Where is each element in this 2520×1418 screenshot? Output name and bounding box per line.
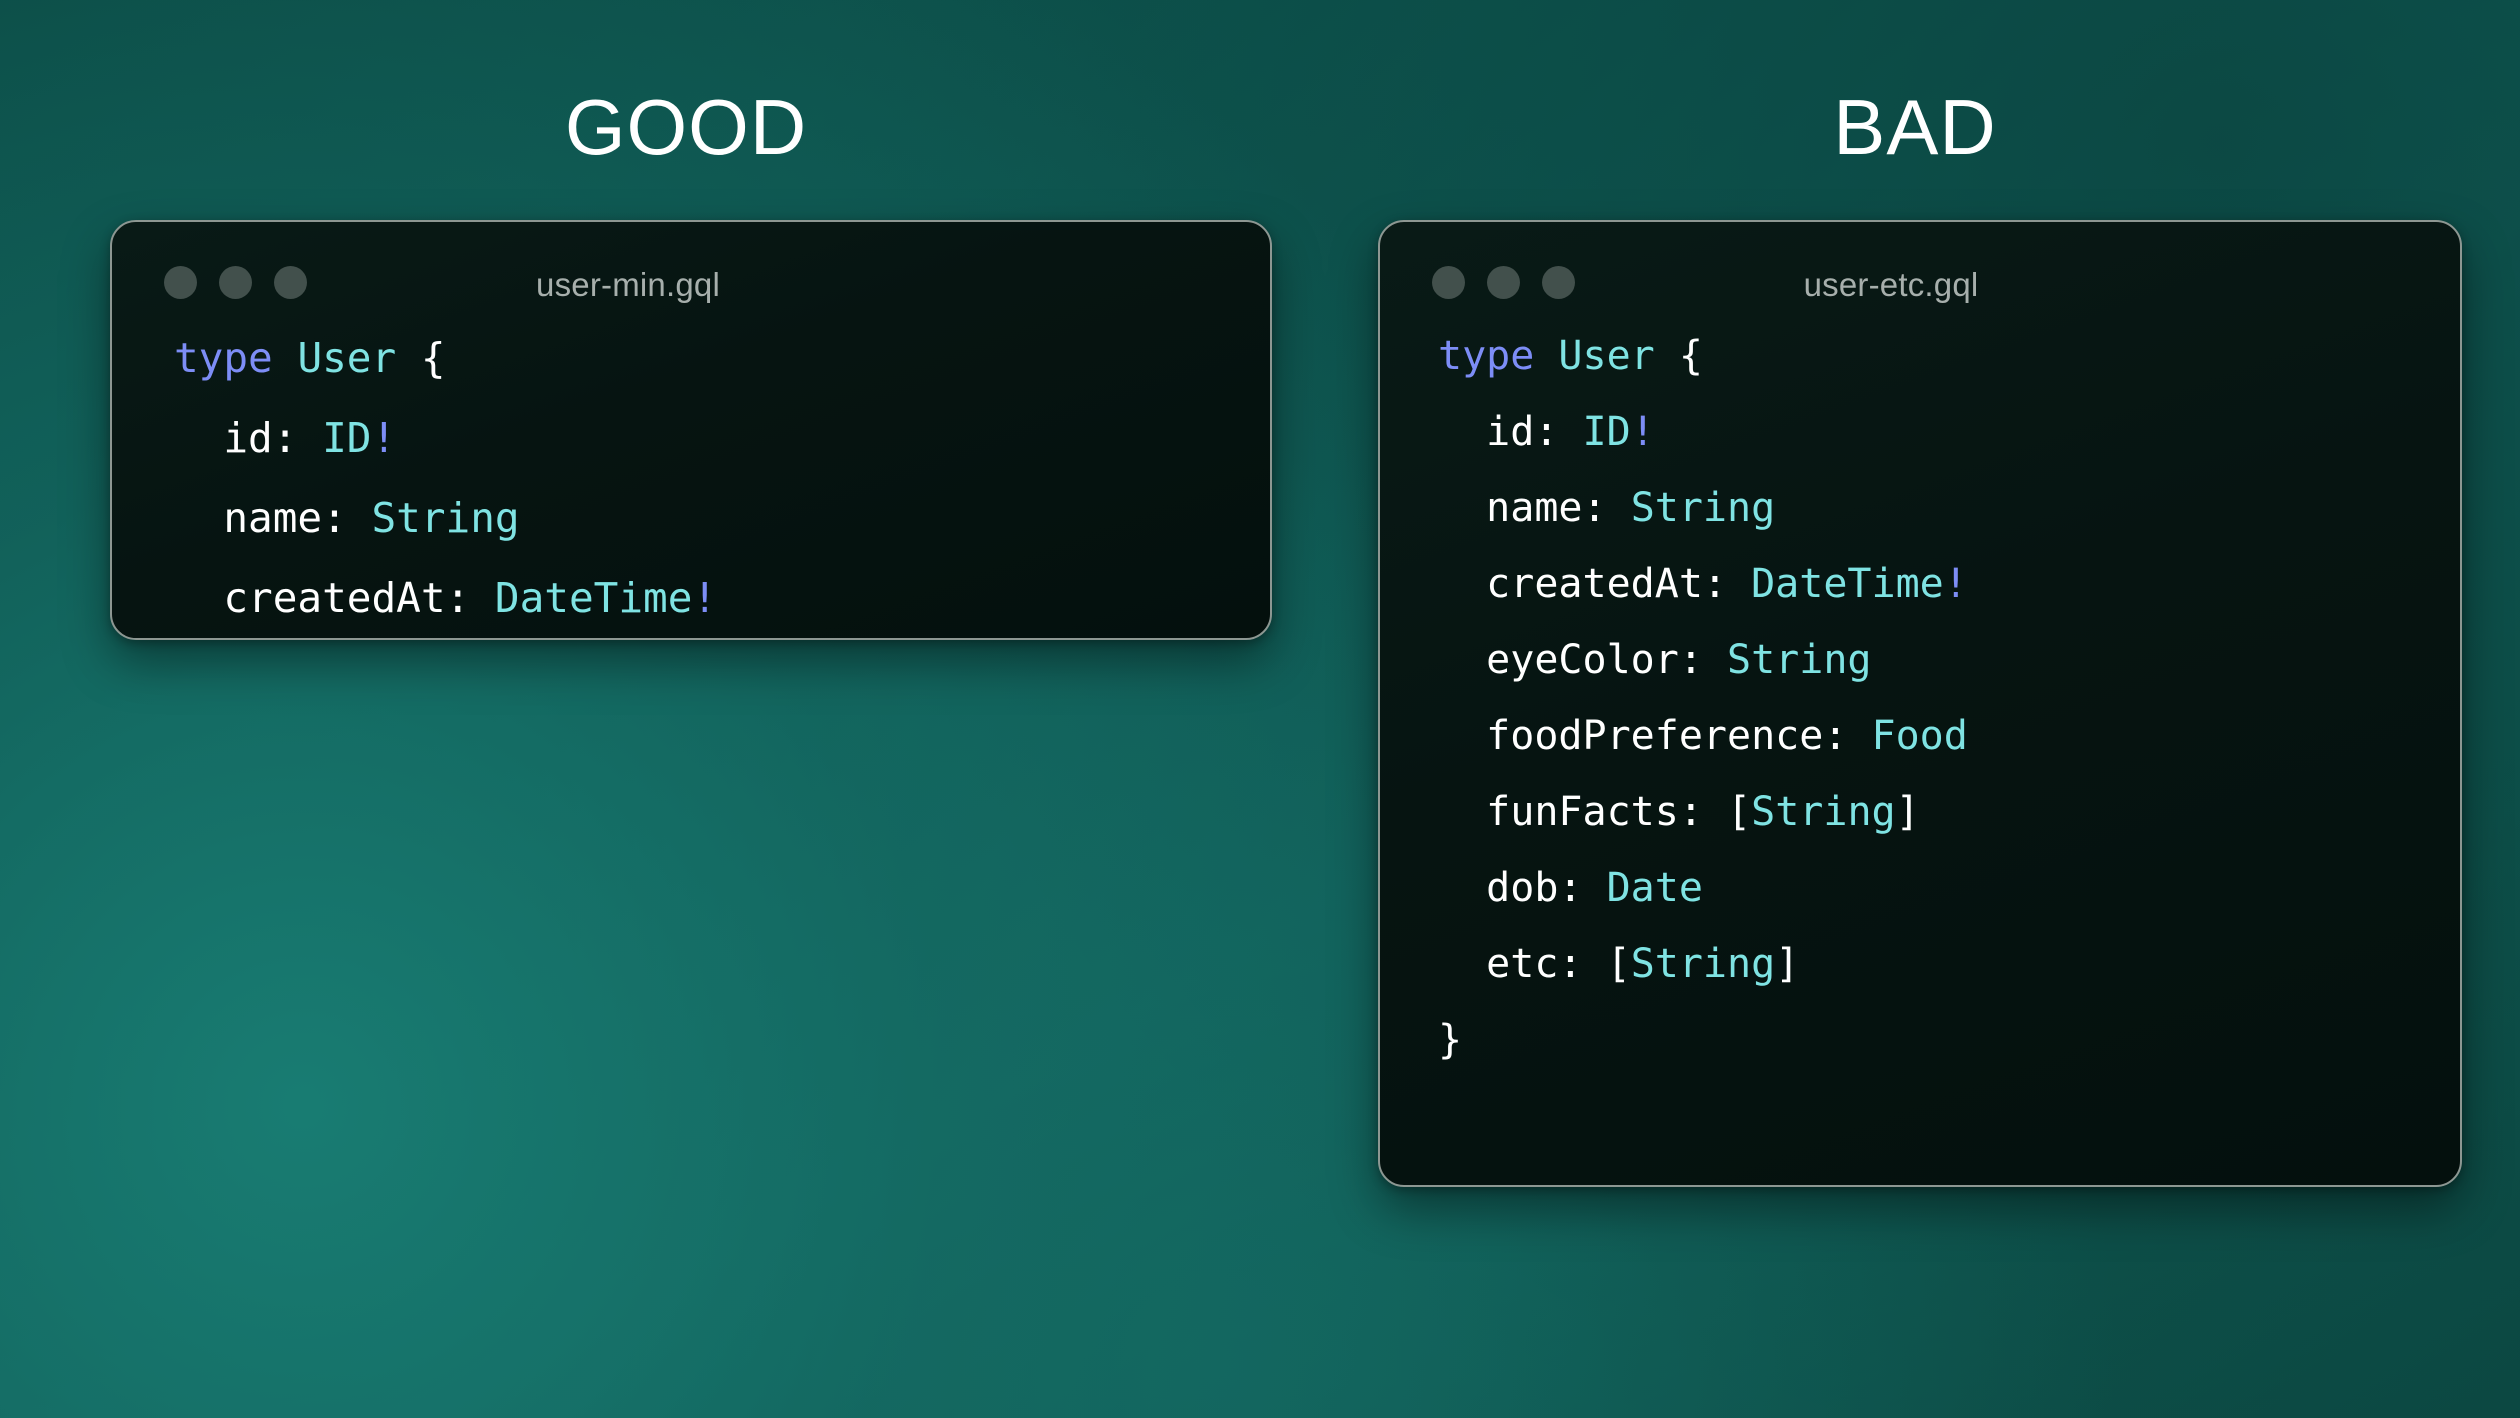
code-token-plain (1727, 561, 1751, 607)
code-token-field: createdAt: (223, 574, 470, 622)
code-token-field: id: (1486, 409, 1558, 455)
code-token-bracket: [ (1727, 789, 1751, 835)
code-token-field: funFacts: (1486, 789, 1703, 835)
code-block-bad: type User { id: ID! name: String created… (1380, 318, 2460, 1078)
code-token-field: name: (1486, 485, 1606, 531)
code-token-plain (1558, 409, 1582, 455)
code-token-punct: { (1679, 333, 1703, 379)
code-line: } (1438, 1002, 2460, 1078)
maximize-dot-icon[interactable] (1542, 266, 1575, 299)
code-indent (174, 414, 223, 462)
code-indent (174, 494, 223, 542)
code-token-type: User (297, 334, 396, 382)
column-title-bad: BAD (1833, 88, 1996, 166)
code-token-plain (347, 494, 372, 542)
traffic-lights-good (164, 266, 307, 299)
code-token-type: ID (1583, 409, 1631, 455)
code-token-keyword: type (174, 334, 273, 382)
code-line: type User { (1438, 318, 2460, 394)
titlebar-good: user-min.gql (112, 222, 1270, 318)
code-token-bang: ! (692, 574, 717, 622)
minimize-dot-icon[interactable] (219, 266, 252, 299)
code-indent (1438, 713, 1486, 759)
code-token-bracket: [ (1607, 941, 1631, 987)
code-token-plain (1583, 865, 1607, 911)
code-indent (1438, 789, 1486, 835)
code-token-type: String (1631, 941, 1776, 987)
close-dot-icon[interactable] (1432, 266, 1465, 299)
code-line: etc: [String] (1438, 926, 2460, 1002)
code-line: name: String (1438, 470, 2460, 546)
code-line: foodPreference: Food (1438, 698, 2460, 774)
code-indent (1438, 409, 1486, 455)
code-token-field: dob: (1486, 865, 1582, 911)
code-line: } (174, 638, 1270, 640)
code-token-plain (470, 574, 495, 622)
code-line: funFacts: [String] (1438, 774, 2460, 850)
code-token-plain (1534, 333, 1558, 379)
code-token-type: ID (322, 414, 371, 462)
code-token-bang: ! (1944, 561, 1968, 607)
code-token-plain (1703, 789, 1727, 835)
traffic-lights-bad (1432, 266, 1575, 299)
code-indent (1438, 941, 1486, 987)
code-token-plain (1847, 713, 1871, 759)
code-token-type: Food (1872, 713, 1968, 759)
code-window-bad[interactable]: user-etc.gql type User { id: ID! name: S… (1378, 220, 2462, 1187)
code-token-type: User (1558, 333, 1654, 379)
code-token-bang: ! (1631, 409, 1655, 455)
code-line: eyeColor: String (1438, 622, 2460, 698)
code-token-plain (396, 334, 421, 382)
code-token-type: String (1631, 485, 1776, 531)
code-token-punct: } (1438, 1017, 1462, 1063)
code-token-bracket: ] (1775, 941, 1799, 987)
code-token-type: DateTime (495, 574, 692, 622)
code-token-field: name: (223, 494, 346, 542)
column-title-good: GOOD (565, 88, 807, 166)
titlebar-bad: user-etc.gql (1380, 222, 2460, 318)
code-token-field: etc: (1486, 941, 1582, 987)
code-window-good[interactable]: user-min.gql type User { id: ID! name: S… (110, 220, 1272, 640)
code-line: createdAt: DateTime! (1438, 546, 2460, 622)
code-line: name: String (174, 478, 1270, 558)
code-token-type: Date (1607, 865, 1703, 911)
code-line: createdAt: DateTime! (174, 558, 1270, 638)
close-dot-icon[interactable] (164, 266, 197, 299)
code-token-bracket: ] (1896, 789, 1920, 835)
code-token-field: id: (223, 414, 297, 462)
code-line: id: ID! (174, 398, 1270, 478)
code-token-field: createdAt: (1486, 561, 1727, 607)
code-indent (1438, 485, 1486, 531)
code-token-plain (1583, 941, 1607, 987)
code-token-plain (297, 414, 322, 462)
comparison-stage: GOOD user-min.gql type User { id: ID! na… (0, 0, 2520, 1418)
code-line: type User { (174, 318, 1270, 398)
code-token-type: String (371, 494, 519, 542)
code-token-keyword: type (1438, 333, 1534, 379)
code-token-type: String (1727, 637, 1872, 683)
code-token-field: foodPreference: (1486, 713, 1847, 759)
code-indent (174, 574, 223, 622)
code-token-plain (273, 334, 298, 382)
code-token-type: DateTime (1751, 561, 1944, 607)
code-token-plain (1655, 333, 1679, 379)
code-token-bang: ! (372, 414, 397, 462)
code-line: dob: Date (1438, 850, 2460, 926)
code-token-punct: { (421, 334, 446, 382)
code-indent (1438, 865, 1486, 911)
code-indent (1438, 561, 1486, 607)
minimize-dot-icon[interactable] (1487, 266, 1520, 299)
code-line: id: ID! (1438, 394, 2460, 470)
code-token-plain (1607, 485, 1631, 531)
code-token-type: String (1751, 789, 1896, 835)
code-token-field: eyeColor: (1486, 637, 1703, 683)
code-indent (1438, 637, 1486, 683)
code-block-good: type User { id: ID! name: String created… (112, 318, 1270, 640)
maximize-dot-icon[interactable] (274, 266, 307, 299)
code-token-plain (1703, 637, 1727, 683)
